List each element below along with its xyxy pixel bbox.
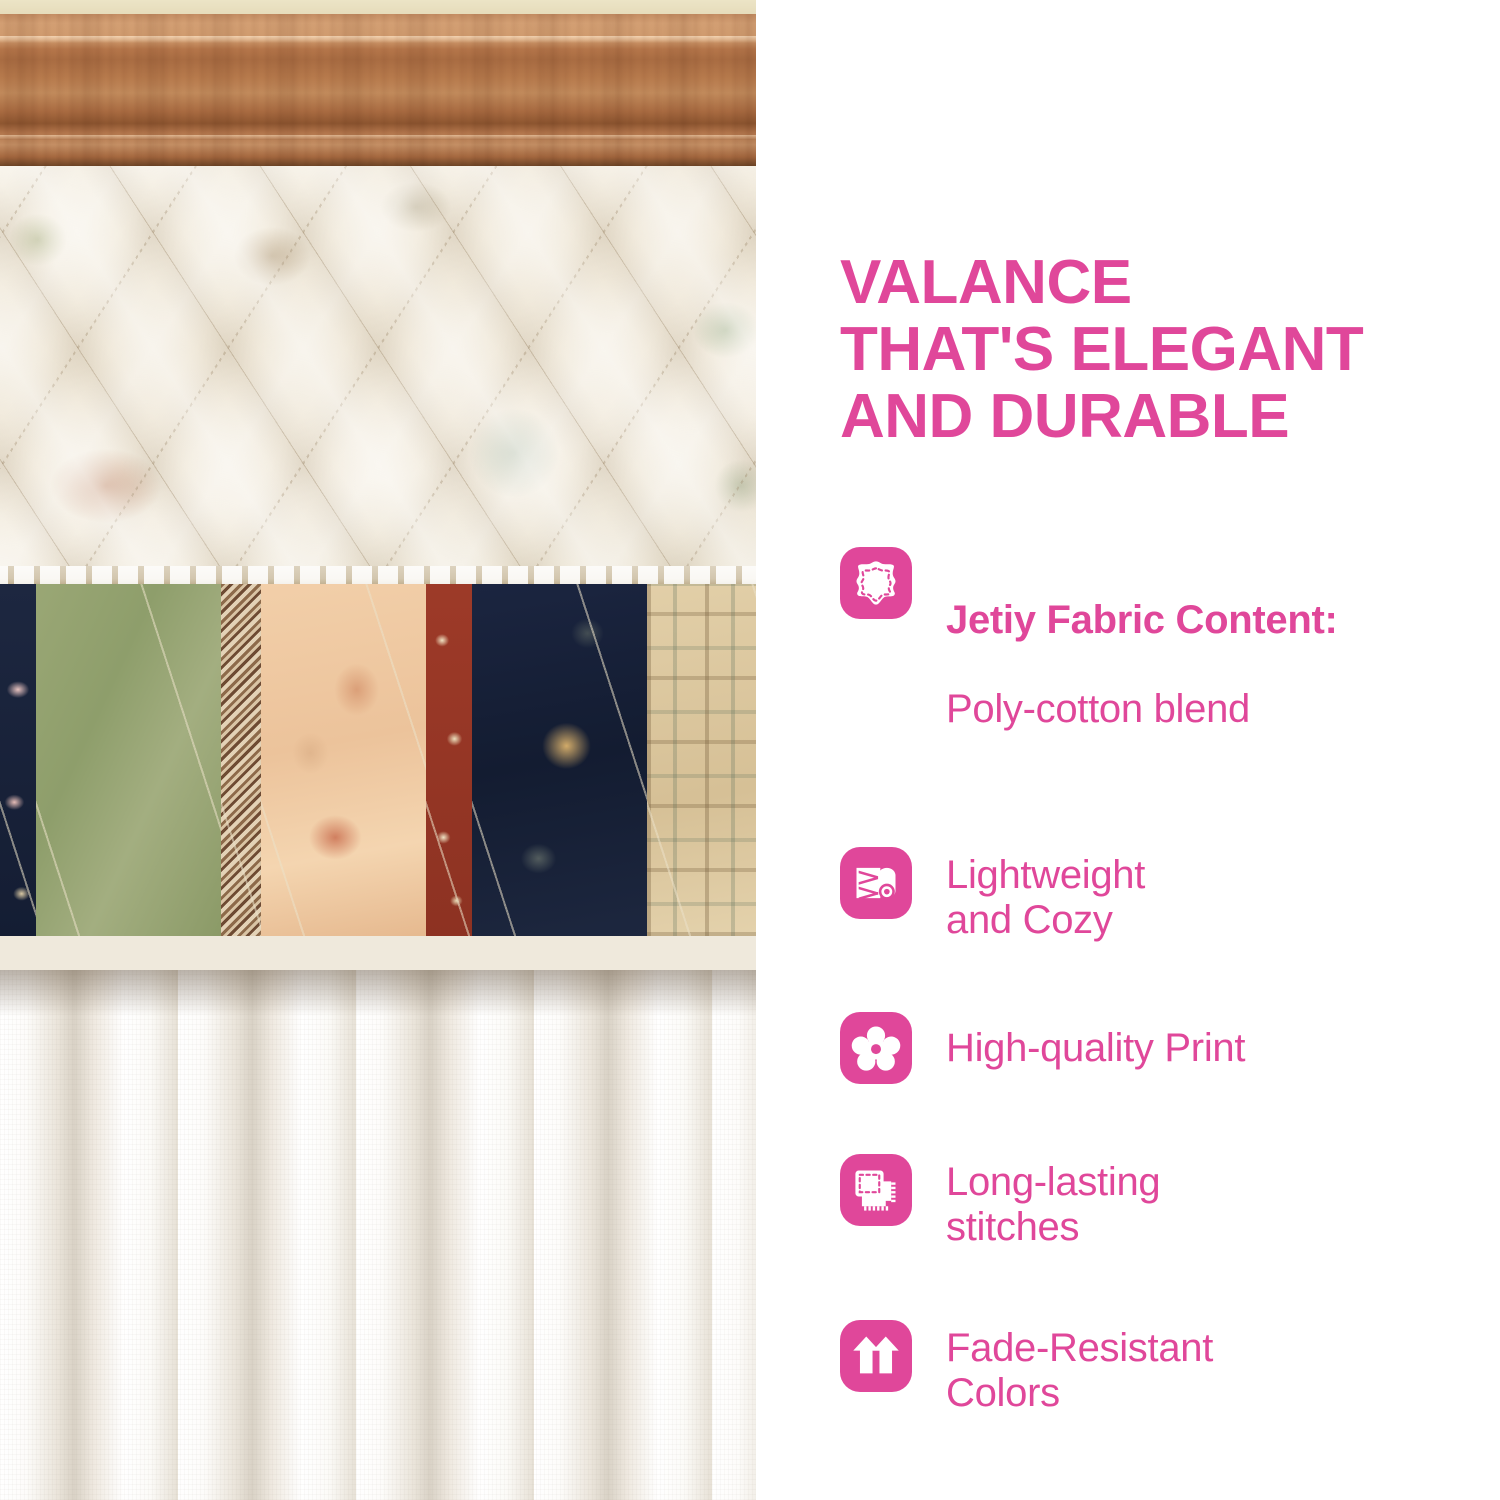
patch-rust-floral-strip <box>426 584 472 936</box>
leather-hide-icon <box>840 547 912 619</box>
feature-label-stitches: Long-lasting stitches <box>946 1154 1160 1250</box>
wall-region <box>0 0 756 14</box>
feature-item-print: High-quality Print <box>840 1012 1500 1084</box>
feature-list: Jetiy Fabric Content: Poly-cotton blend <box>840 547 1500 1416</box>
feature-label-print: High-quality Print <box>946 1012 1245 1071</box>
molding-highlight <box>0 36 756 43</box>
feature-value-fabric-content: Poly-cotton blend <box>946 687 1338 732</box>
quilted-cream-valance <box>0 166 756 576</box>
page-title: VALANCE THAT'S ELEGANT AND DURABLE <box>840 250 1500 451</box>
patch-navy-gold-flower <box>472 584 647 936</box>
fabric-swatch-stitch-icon <box>840 1154 912 1226</box>
feature-label-fabric-content: Jetiy Fabric Content: Poly-cotton blend <box>946 547 1338 777</box>
patch-tan-plaid <box>647 584 756 936</box>
patch-peach-floral <box>261 584 426 936</box>
patchwork-band <box>0 584 756 936</box>
product-photo <box>0 0 756 1500</box>
flower-icon <box>840 1012 912 1084</box>
feature-item-stitches: Long-lasting stitches <box>840 1154 1500 1250</box>
curtain-top-shadow <box>0 970 756 1016</box>
product-feature-card: VALANCE THAT'S ELEGANT AND DURABLE Jetiy… <box>0 0 1500 1500</box>
feature-item-fade-resistant: Fade-Resistant Colors <box>840 1320 1500 1416</box>
white-sheer-curtain <box>0 970 756 1500</box>
patch-navy-floral <box>0 584 36 936</box>
fabric-roll-icon <box>840 847 912 919</box>
feature-label-lightweight: Lightweight and Cozy <box>946 847 1145 943</box>
feature-item-fabric-content: Jetiy Fabric Content: Poly-cotton blend <box>840 547 1500 777</box>
valance-gather-seam <box>0 566 756 584</box>
wood-crown-molding <box>0 14 756 166</box>
feature-label-fade-resistant: Fade-Resistant Colors <box>946 1320 1213 1416</box>
feature-item-lightweight: Lightweight and Cozy <box>840 847 1500 943</box>
molding-lip <box>0 135 756 140</box>
rust-floral-binding <box>0 928 756 970</box>
feature-title-fabric-content: Jetiy Fabric Content: <box>946 598 1338 643</box>
content-panel: VALANCE THAT'S ELEGANT AND DURABLE Jetiy… <box>756 0 1500 1500</box>
patch-speckled-strip <box>221 584 261 936</box>
patch-sage-solid <box>36 584 221 936</box>
double-arrow-up-icon <box>840 1320 912 1392</box>
